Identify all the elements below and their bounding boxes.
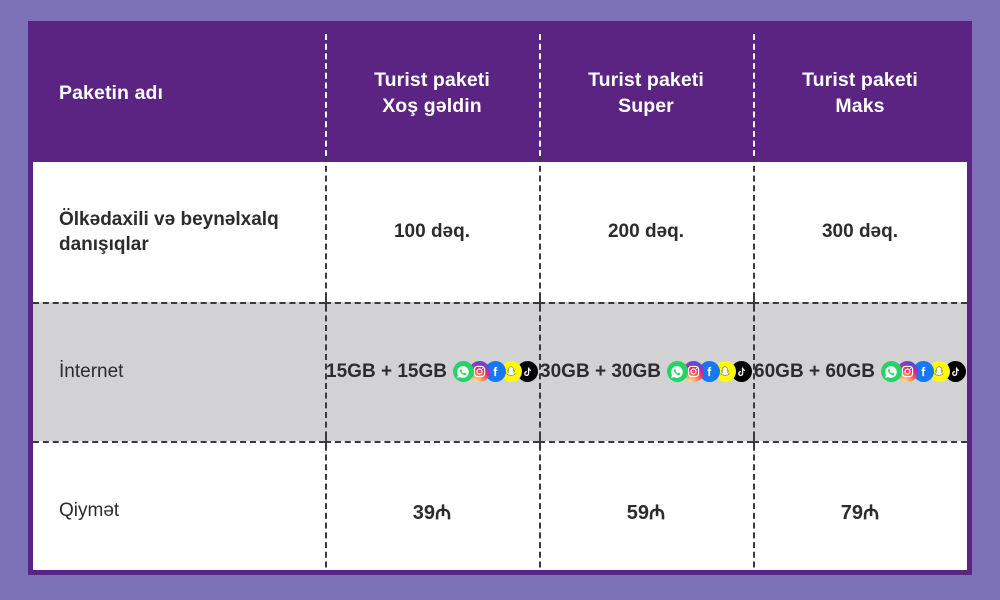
row-divider-price-top-c3: [753, 441, 967, 443]
header-plan-2-line1: Turist paketi: [539, 68, 753, 94]
row-divider-internet-top-c1: [325, 302, 539, 304]
tariff-comparison-table: Paketin adı Turist paketi Xoş gəldin Tur…: [33, 26, 967, 575]
table-header-row: Paketin adı Turist paketi Xoş gəldin Tur…: [33, 26, 967, 162]
header-plan-1-line2: Xoş gəldin: [325, 94, 539, 120]
header-cell-plan-2: Turist paketi Super: [539, 26, 753, 162]
pricing-table-card: Paketin adı Turist paketi Xoş gəldin Tur…: [28, 21, 972, 575]
pricing-table-screen: Paketin adı Turist paketi Xoş gəldin Tur…: [0, 0, 1000, 600]
header-plan-2-line2: Super: [539, 94, 753, 120]
internet-plan-3-amount: 60GB + 60GB: [754, 361, 875, 383]
cell-price-plan-2: 59₼: [539, 441, 753, 575]
table-row-price: Qiymət 39₼ 59₼ 79₼: [33, 441, 967, 575]
price-plan-2-value: 59₼: [539, 498, 753, 525]
row-divider-internet-top-c2: [539, 302, 753, 304]
social-icon-group-plan-3: [881, 361, 966, 382]
row-divider-price-top-c2: [539, 441, 753, 443]
cell-internet-plan-2: 30GB + 30GB: [539, 302, 753, 441]
header-cell-package-name: Paketin adı: [33, 26, 325, 162]
social-icon-group-plan-2: [667, 361, 752, 382]
table-row-internet: İnternet 15GB + 15GB: [33, 302, 967, 441]
cell-price-plan-1: 39₼: [325, 441, 539, 575]
header-plan-3-line1: Turist paketi: [753, 68, 967, 94]
header-plan-1-line1: Turist paketi: [325, 68, 539, 94]
cell-internet-plan-3: 60GB + 60GB: [753, 302, 967, 441]
internet-plan-1-content: 15GB + 15GB: [325, 361, 539, 383]
internet-plan-1-amount: 15GB + 15GB: [326, 361, 447, 383]
internet-plan-2-content: 30GB + 30GB: [539, 361, 753, 383]
row-label-price-text: Qiymət: [59, 500, 119, 521]
cell-internet-plan-1: 15GB + 15GB: [325, 302, 539, 441]
header-plan-3-line2: Maks: [753, 94, 967, 120]
header-cell-plan-3: Turist paketi Maks: [753, 26, 967, 162]
row-divider-internet-top-c3: [753, 302, 967, 304]
row-label-internet: İnternet: [33, 302, 325, 441]
row-divider-internet-top: [33, 302, 325, 304]
whatsapp-icon: [453, 361, 474, 382]
row-label-price: Qiymət: [33, 441, 325, 575]
cell-calls-plan-3: 300 dəq.: [753, 162, 967, 302]
row-divider-price-top: [33, 441, 325, 443]
cell-price-plan-3: 79₼: [753, 441, 967, 575]
table-row-calls: Ölkədaxili və beynəlxalq danışıqlar 100 …: [33, 162, 967, 302]
social-icon-group-plan-1: [453, 361, 538, 382]
row-label-internet-text: İnternet: [59, 361, 123, 382]
whatsapp-icon: [667, 361, 688, 382]
cell-calls-plan-1: 100 dəq.: [325, 162, 539, 302]
table-header: Paketin adı Turist paketi Xoş gəldin Tur…: [33, 26, 967, 162]
row-label-calls: Ölkədaxili və beynəlxalq danışıqlar: [33, 162, 325, 302]
price-plan-3-value: 79₼: [753, 498, 967, 525]
cell-calls-plan-2: 200 dəq.: [539, 162, 753, 302]
header-label-package-name: Paketin adı: [59, 82, 163, 104]
whatsapp-icon: [881, 361, 902, 382]
table-body: Ölkədaxili və beynəlxalq danışıqlar 100 …: [33, 162, 967, 575]
internet-plan-3-content: 60GB + 60GB: [753, 361, 967, 383]
row-divider-price-top-c1: [325, 441, 539, 443]
header-cell-plan-1: Turist paketi Xoş gəldin: [325, 26, 539, 162]
internet-plan-2-amount: 30GB + 30GB: [540, 361, 661, 383]
price-plan-1-value: 39₼: [325, 498, 539, 525]
